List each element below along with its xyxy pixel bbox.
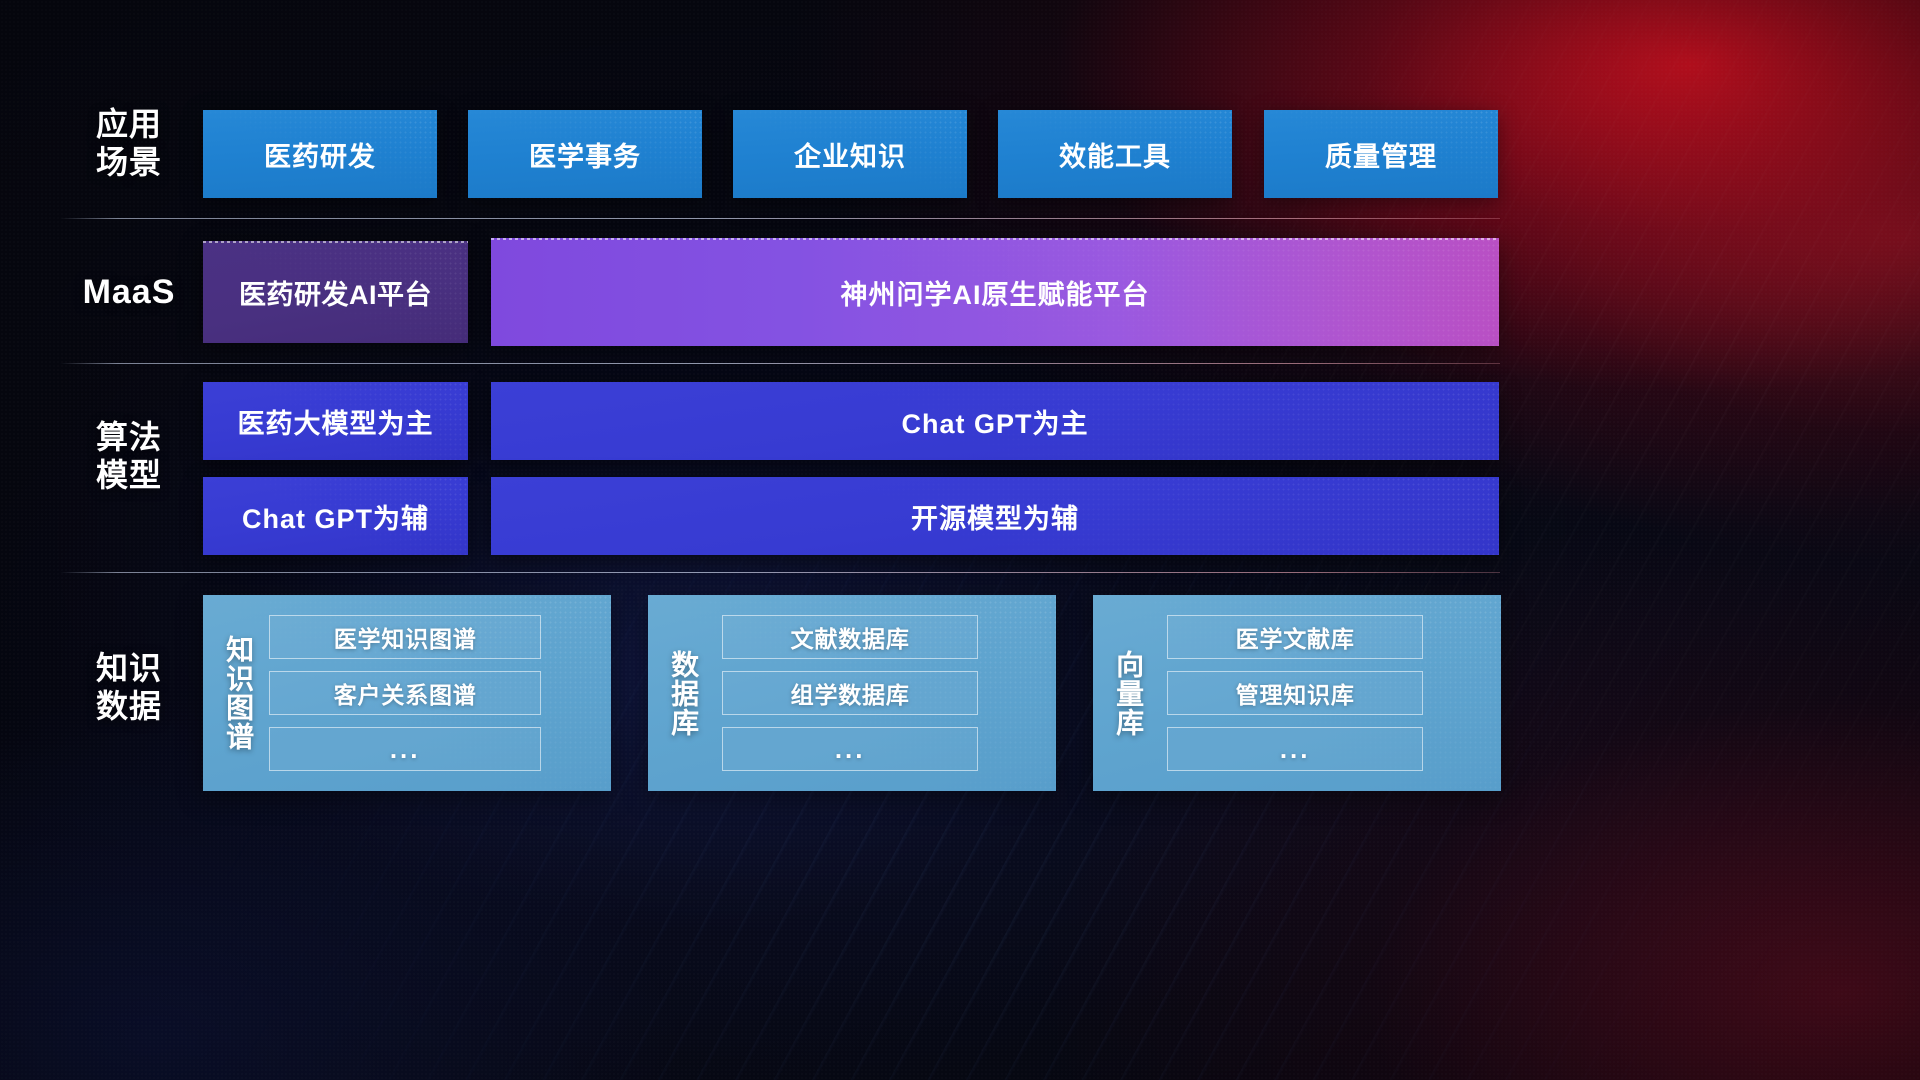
knowledge-item-graph-3-label: ... — [390, 734, 421, 765]
algo-box-row2-left-label: Chat GPT为辅 — [242, 497, 429, 536]
algo-box-row2-right-label: 开源模型为辅 — [911, 497, 1079, 536]
app-box-3-label: 企业知识 — [794, 135, 906, 174]
knowledge-group-database-items: 文献数据库 组学数据库 ... — [722, 615, 978, 771]
knowledge-group-database-title: 数据库 — [666, 631, 700, 755]
app-box-4[interactable]: 效能工具 — [998, 110, 1232, 198]
algo-box-row2-right[interactable]: 开源模型为辅 — [491, 477, 1499, 555]
knowledge-group-graph-items: 医学知识图谱 客户关系图谱 ... — [269, 615, 541, 771]
knowledge-group-database: 数据库 文献数据库 组学数据库 ... — [648, 595, 1056, 791]
knowledge-item-database-2-label: 组学数据库 — [791, 676, 910, 710]
knowledge-item-vector-1[interactable]: 医学文献库 — [1167, 615, 1423, 659]
knowledge-item-vector-3-label: ... — [1280, 734, 1311, 765]
knowledge-item-graph-2[interactable]: 客户关系图谱 — [269, 671, 541, 715]
knowledge-item-database-3-label: ... — [835, 734, 866, 765]
row-label-knowledge: 知识 数据 — [64, 650, 194, 726]
knowledge-item-vector-2-label: 管理知识库 — [1236, 676, 1355, 710]
divider-maas-algorithm — [60, 363, 1500, 364]
app-box-4-label: 效能工具 — [1059, 135, 1171, 174]
knowledge-item-vector-2[interactable]: 管理知识库 — [1167, 671, 1423, 715]
maas-box-medical-ai-platform[interactable]: 医药研发AI平台 — [203, 241, 468, 343]
row-label-maas: MaaS — [64, 272, 194, 312]
knowledge-group-vector-title: 向量库 — [1111, 631, 1145, 755]
algo-box-row1-left[interactable]: 医药大模型为主 — [203, 382, 468, 460]
knowledge-item-database-1[interactable]: 文献数据库 — [722, 615, 978, 659]
knowledge-item-database-1-label: 文献数据库 — [791, 620, 910, 654]
knowledge-item-graph-1[interactable]: 医学知识图谱 — [269, 615, 541, 659]
knowledge-item-graph-2-label: 客户关系图谱 — [334, 676, 477, 710]
app-box-3[interactable]: 企业知识 — [733, 110, 967, 198]
algo-box-row1-right-label: Chat GPT为主 — [901, 402, 1088, 441]
knowledge-group-vector-items: 医学文献库 管理知识库 ... — [1167, 615, 1423, 771]
knowledge-group-graph-title: 知识图谱 — [221, 612, 255, 774]
app-box-2[interactable]: 医学事务 — [468, 110, 702, 198]
knowledge-item-graph-1-label: 医学知识图谱 — [334, 620, 477, 654]
divider-algorithm-knowledge — [60, 572, 1500, 573]
app-box-2-label: 医学事务 — [529, 135, 641, 174]
row-label-application: 应用 场景 — [64, 106, 194, 182]
knowledge-item-database-3[interactable]: ... — [722, 727, 978, 771]
maas-box-right-label: 神州问学AI原生赋能平台 — [841, 273, 1150, 312]
knowledge-group-vector: 向量库 医学文献库 管理知识库 ... — [1093, 595, 1501, 791]
app-box-1-label: 医药研发 — [264, 135, 376, 174]
algo-box-row1-left-label: 医药大模型为主 — [238, 402, 434, 441]
row-label-algorithm: 算法 模型 — [64, 419, 194, 495]
knowledge-item-graph-3[interactable]: ... — [269, 727, 541, 771]
maas-box-shenzhou-wenxue-platform[interactable]: 神州问学AI原生赋能平台 — [491, 238, 1499, 346]
algo-box-row1-right[interactable]: Chat GPT为主 — [491, 382, 1499, 460]
app-box-5[interactable]: 质量管理 — [1264, 110, 1498, 198]
knowledge-item-database-2[interactable]: 组学数据库 — [722, 671, 978, 715]
architecture-diagram: 应用 场景 医药研发 医学事务 企业知识 效能工具 质量管理 MaaS 医药研发… — [0, 0, 1920, 1080]
app-box-1[interactable]: 医药研发 — [203, 110, 437, 198]
knowledge-group-graph: 知识图谱 医学知识图谱 客户关系图谱 ... — [203, 595, 611, 791]
divider-application-maas — [60, 218, 1500, 219]
knowledge-item-vector-1-label: 医学文献库 — [1236, 620, 1355, 654]
algo-box-row2-left[interactable]: Chat GPT为辅 — [203, 477, 468, 555]
maas-box-left-label: 医药研发AI平台 — [239, 273, 432, 312]
knowledge-item-vector-3[interactable]: ... — [1167, 727, 1423, 771]
app-box-5-label: 质量管理 — [1325, 135, 1437, 174]
